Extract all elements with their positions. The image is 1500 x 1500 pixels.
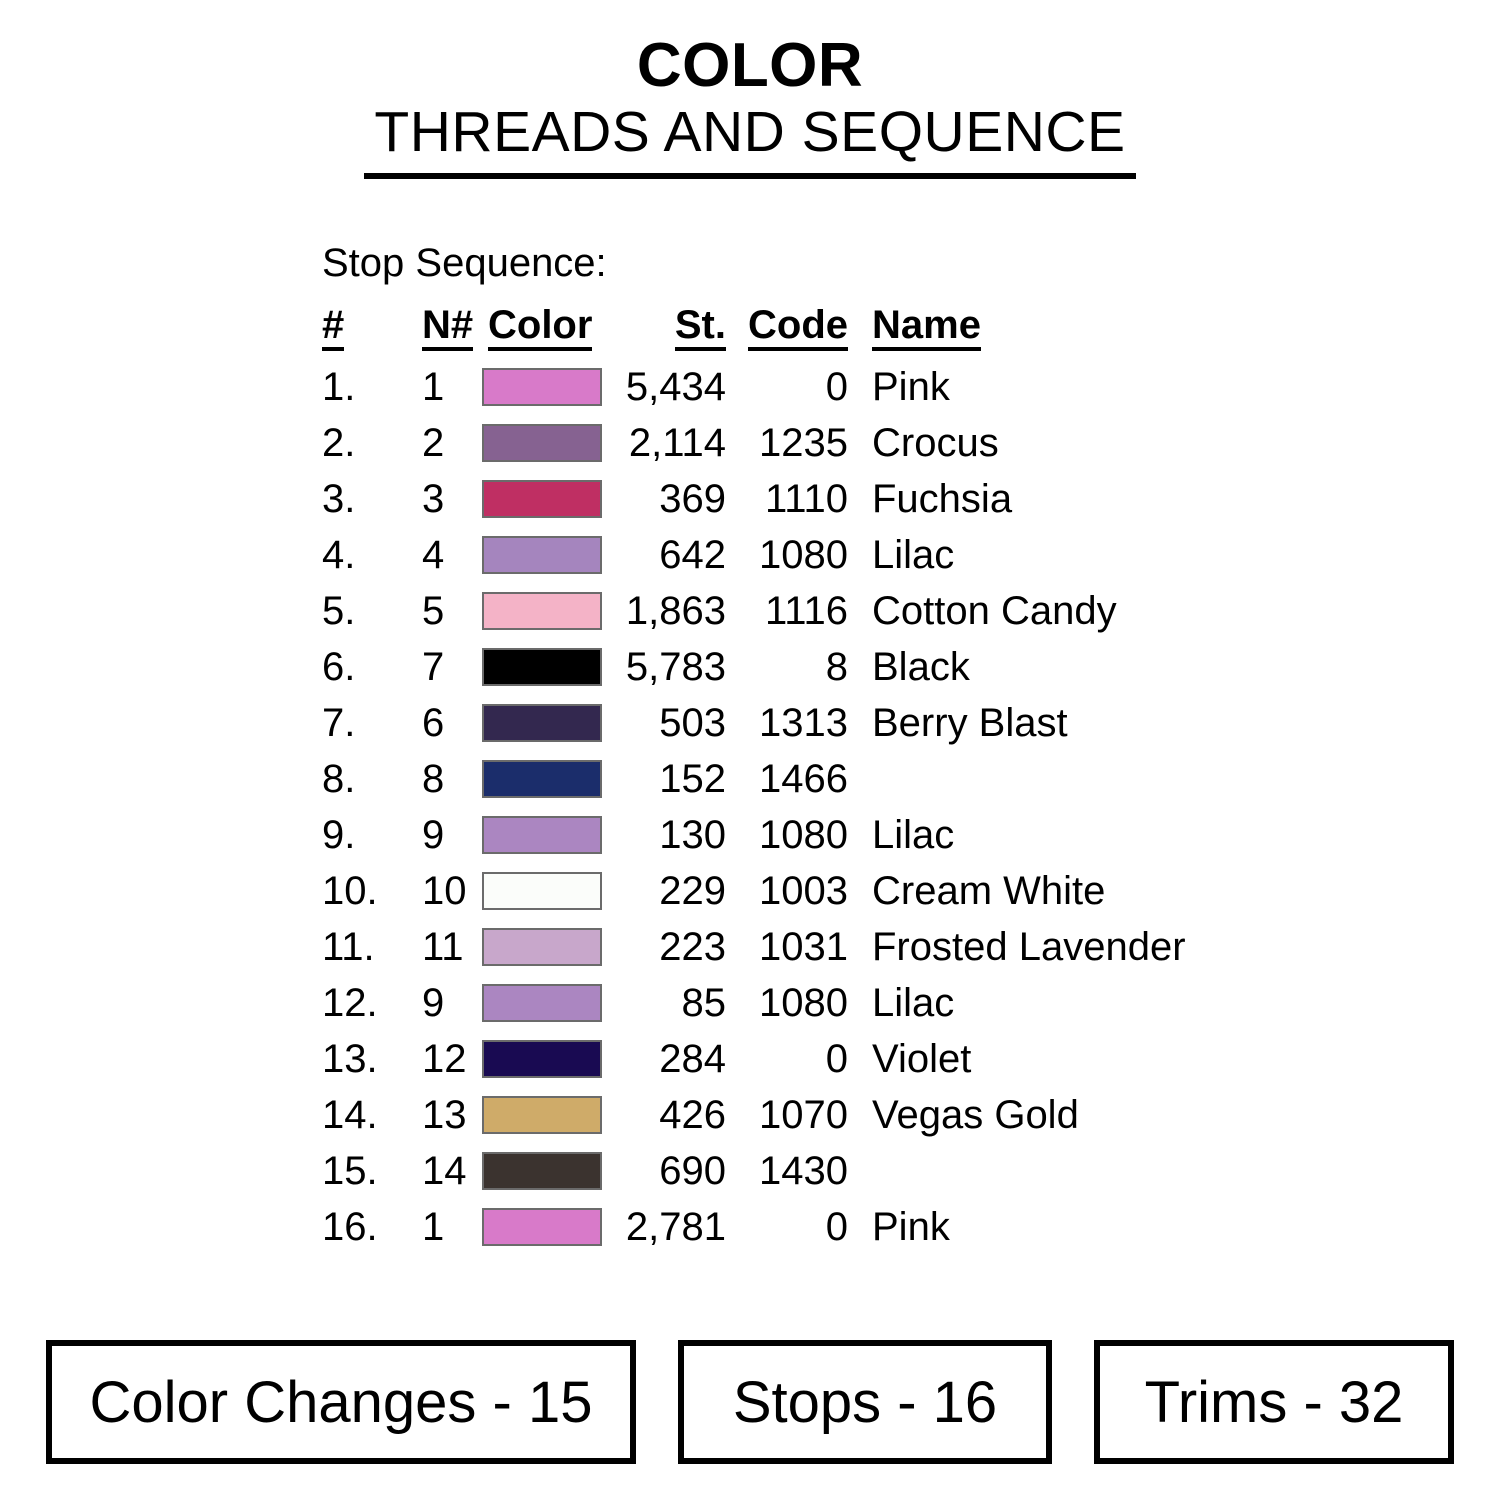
stops-text: Stops - 16 <box>733 1369 997 1436</box>
color-swatch <box>482 424 602 462</box>
table-header-row: # N# Color St. Code Name <box>322 301 1186 359</box>
row-stitches: 369 <box>616 471 730 527</box>
row-name: Fuchsia <box>852 471 1186 527</box>
row-code: 0 <box>730 359 852 415</box>
row-code: 8 <box>730 639 852 695</box>
row-needle: 13 <box>418 1087 482 1143</box>
row-color-cell <box>482 471 616 527</box>
row-needle: 1 <box>418 359 482 415</box>
color-swatch <box>482 872 602 910</box>
row-stitches: 229 <box>616 863 730 919</box>
row-name: Pink <box>852 359 1186 415</box>
page-header: COLOR THREADS AND SEQUENCE <box>0 0 1500 179</box>
row-name: Crocus <box>852 415 1186 471</box>
table-row: 2.22,1141235Crocus <box>322 415 1186 471</box>
page-title: COLOR <box>0 34 1500 97</box>
row-index: 8. <box>322 751 418 807</box>
thread-sequence-table: # N# Color St. Code Name 1.15,4340Pink2.… <box>322 301 1186 1255</box>
row-needle: 11 <box>418 919 482 975</box>
column-header-color-text: Color <box>488 305 592 351</box>
row-stitches: 152 <box>616 751 730 807</box>
row-index: 12. <box>322 975 418 1031</box>
row-color-cell <box>482 1087 616 1143</box>
row-code: 1466 <box>730 751 852 807</box>
color-swatch <box>482 1208 602 1246</box>
row-stitches: 642 <box>616 527 730 583</box>
row-needle: 10 <box>418 863 482 919</box>
row-needle: 3 <box>418 471 482 527</box>
row-color-cell <box>482 527 616 583</box>
color-swatch <box>482 928 602 966</box>
row-code: 0 <box>730 1031 852 1087</box>
row-color-cell <box>482 1031 616 1087</box>
row-needle: 8 <box>418 751 482 807</box>
row-code: 1003 <box>730 863 852 919</box>
row-code: 1116 <box>730 583 852 639</box>
row-stitches: 503 <box>616 695 730 751</box>
row-name: Black <box>852 639 1186 695</box>
row-stitches: 284 <box>616 1031 730 1087</box>
row-stitches: 85 <box>616 975 730 1031</box>
column-header-name: Name <box>852 301 1186 359</box>
row-code: 1080 <box>730 807 852 863</box>
row-name: Pink <box>852 1199 1186 1255</box>
row-index: 5. <box>322 583 418 639</box>
row-needle: 1 <box>418 1199 482 1255</box>
row-stitches: 690 <box>616 1143 730 1199</box>
color-swatch <box>482 536 602 574</box>
row-needle: 7 <box>418 639 482 695</box>
column-header-needle-text: N# <box>422 305 473 351</box>
table-row: 9.91301080Lilac <box>322 807 1186 863</box>
row-stitches: 5,783 <box>616 639 730 695</box>
table-row: 12.9851080Lilac <box>322 975 1186 1031</box>
column-header-stitches-text: St. <box>675 305 726 351</box>
row-code: 1070 <box>730 1087 852 1143</box>
table-row: 11.112231031Frosted Lavender <box>322 919 1186 975</box>
row-index: 2. <box>322 415 418 471</box>
row-index: 6. <box>322 639 418 695</box>
row-name: Berry Blast <box>852 695 1186 751</box>
row-stitches: 426 <box>616 1087 730 1143</box>
table-row: 16.12,7810Pink <box>322 1199 1186 1255</box>
table-row: 4.46421080Lilac <box>322 527 1186 583</box>
color-swatch <box>482 760 602 798</box>
trims-box: Trims - 32 <box>1094 1340 1454 1464</box>
row-color-cell <box>482 1143 616 1199</box>
row-needle: 14 <box>418 1143 482 1199</box>
row-name: Lilac <box>852 527 1186 583</box>
row-needle: 12 <box>418 1031 482 1087</box>
row-color-cell <box>482 863 616 919</box>
row-name <box>852 751 1186 807</box>
table-row: 5.51,8631116Cotton Candy <box>322 583 1186 639</box>
row-color-cell <box>482 919 616 975</box>
row-name <box>852 1143 1186 1199</box>
color-swatch <box>482 1096 602 1134</box>
row-needle: 4 <box>418 527 482 583</box>
table-row: 1.15,4340Pink <box>322 359 1186 415</box>
stop-sequence-label: Stop Sequence: <box>322 241 1500 285</box>
table-body: 1.15,4340Pink2.22,1141235Crocus3.3369111… <box>322 359 1186 1255</box>
page-subtitle-underline: THREADS AND SEQUENCE <box>364 103 1135 179</box>
row-index: 3. <box>322 471 418 527</box>
row-code: 1313 <box>730 695 852 751</box>
stops-box: Stops - 16 <box>678 1340 1052 1464</box>
row-color-cell <box>482 1199 616 1255</box>
row-color-cell <box>482 975 616 1031</box>
row-stitches: 2,114 <box>616 415 730 471</box>
row-stitches: 2,781 <box>616 1199 730 1255</box>
table-row: 6.75,7838Black <box>322 639 1186 695</box>
row-index: 1. <box>322 359 418 415</box>
row-index: 7. <box>322 695 418 751</box>
stop-sequence-section: Stop Sequence: # N# Color St. Code Name … <box>0 241 1500 1255</box>
color-swatch <box>482 648 602 686</box>
row-color-cell <box>482 415 616 471</box>
color-swatch <box>482 704 602 742</box>
row-code: 1235 <box>730 415 852 471</box>
row-color-cell <box>482 695 616 751</box>
row-name: Frosted Lavender <box>852 919 1186 975</box>
column-header-code-text: Code <box>748 305 848 351</box>
row-code: 1080 <box>730 975 852 1031</box>
row-name: Lilac <box>852 807 1186 863</box>
row-code: 1430 <box>730 1143 852 1199</box>
color-swatch <box>482 368 602 406</box>
summary-row: Color Changes - 15 Stops - 16 Trims - 32 <box>46 1340 1454 1464</box>
row-name: Cotton Candy <box>852 583 1186 639</box>
table-row: 15.146901430 <box>322 1143 1186 1199</box>
row-index: 15. <box>322 1143 418 1199</box>
row-code: 1110 <box>730 471 852 527</box>
row-stitches: 5,434 <box>616 359 730 415</box>
row-code: 1031 <box>730 919 852 975</box>
row-name: Lilac <box>852 975 1186 1031</box>
row-index: 13. <box>322 1031 418 1087</box>
row-color-cell <box>482 807 616 863</box>
table-row: 3.33691110Fuchsia <box>322 471 1186 527</box>
row-code: 1080 <box>730 527 852 583</box>
column-header-color: Color <box>482 301 616 359</box>
table-header: # N# Color St. Code Name <box>322 301 1186 359</box>
row-stitches: 1,863 <box>616 583 730 639</box>
row-needle: 2 <box>418 415 482 471</box>
color-swatch <box>482 592 602 630</box>
row-index: 4. <box>322 527 418 583</box>
row-needle: 9 <box>418 807 482 863</box>
table-row: 8.81521466 <box>322 751 1186 807</box>
row-stitches: 223 <box>616 919 730 975</box>
row-color-cell <box>482 639 616 695</box>
page-subtitle: THREADS AND SEQUENCE <box>374 103 1125 163</box>
row-stitches: 130 <box>616 807 730 863</box>
row-needle: 5 <box>418 583 482 639</box>
row-index: 11. <box>322 919 418 975</box>
row-name: Cream White <box>852 863 1186 919</box>
row-needle: 6 <box>418 695 482 751</box>
column-header-code: Code <box>730 301 852 359</box>
row-color-cell <box>482 751 616 807</box>
table-row: 7.65031313Berry Blast <box>322 695 1186 751</box>
row-index: 9. <box>322 807 418 863</box>
column-header-stitches: St. <box>616 301 730 359</box>
color-swatch <box>482 1040 602 1078</box>
row-index: 14. <box>322 1087 418 1143</box>
column-header-index-text: # <box>322 305 344 351</box>
color-changes-text: Color Changes - 15 <box>90 1369 593 1436</box>
row-name: Violet <box>852 1031 1186 1087</box>
column-header-name-text: Name <box>872 305 981 351</box>
trims-text: Trims - 32 <box>1145 1369 1404 1436</box>
row-index: 16. <box>322 1199 418 1255</box>
color-changes-box: Color Changes - 15 <box>46 1340 636 1464</box>
table-row: 14.134261070Vegas Gold <box>322 1087 1186 1143</box>
color-swatch <box>482 984 602 1022</box>
table-row: 10.102291003Cream White <box>322 863 1186 919</box>
row-index: 10. <box>322 863 418 919</box>
table-row: 13.122840Violet <box>322 1031 1186 1087</box>
row-color-cell <box>482 359 616 415</box>
row-needle: 9 <box>418 975 482 1031</box>
color-swatch <box>482 816 602 854</box>
row-color-cell <box>482 583 616 639</box>
row-code: 0 <box>730 1199 852 1255</box>
column-header-index: # <box>322 301 418 359</box>
column-header-needle: N# <box>418 301 482 359</box>
row-name: Vegas Gold <box>852 1087 1186 1143</box>
color-swatch <box>482 1152 602 1190</box>
color-swatch <box>482 480 602 518</box>
